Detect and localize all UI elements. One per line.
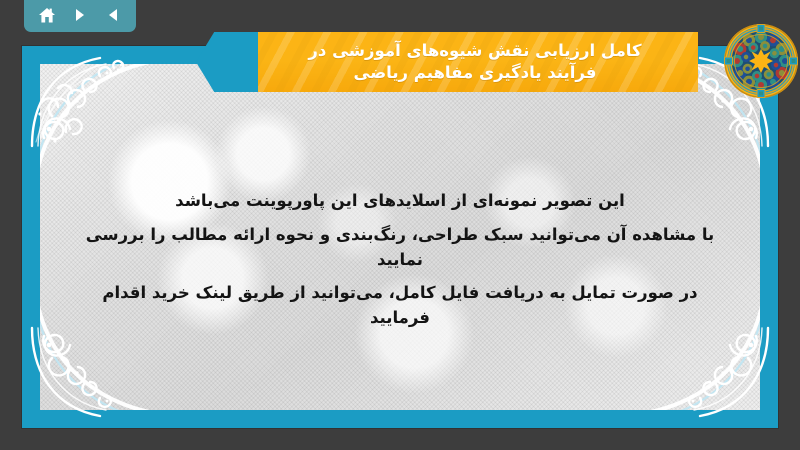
- triangle-left-icon: [105, 7, 121, 23]
- body-line-2: با مشاهده آن می‌توانید سبک طراحی، رنگ‌بن…: [80, 223, 720, 273]
- slide-title: کامل ارزیابی نقش شیوه‌های آموزشی در فرآی…: [308, 40, 641, 84]
- slide-body-text: این تصویر نمونه‌ای از اسلایدهای این پاور…: [80, 189, 720, 340]
- banner-plate: کامل ارزیابی نقش شیوه‌های آموزشی در فرآی…: [258, 32, 698, 92]
- persian-medallion-icon: [722, 22, 800, 100]
- home-button[interactable]: [34, 3, 60, 27]
- slide-viewer: این تصویر نمونه‌ای از اسلایدهای این پاور…: [0, 0, 800, 450]
- triangle-right-icon: [72, 7, 88, 23]
- forward-button[interactable]: [67, 3, 93, 27]
- banner-ribbon-tail: [196, 32, 266, 92]
- back-button[interactable]: [100, 3, 126, 27]
- body-line-3: در صورت تمایل به دریافت فایل کامل، می‌تو…: [80, 281, 720, 331]
- title-banner: کامل ارزیابی نقش شیوه‌های آموزشی در فرآی…: [196, 22, 800, 100]
- slide-content-area: این تصویر نمونه‌ای از اسلایدهای این پاور…: [40, 64, 760, 410]
- navigation-bar: [24, 0, 136, 32]
- corner-arc-top-left: [40, 64, 204, 208]
- body-line-1: این تصویر نمونه‌ای از اسلایدهای این پاور…: [80, 189, 720, 214]
- home-icon: [38, 7, 56, 24]
- slide-frame: این تصویر نمونه‌ای از اسلایدهای این پاور…: [22, 46, 778, 428]
